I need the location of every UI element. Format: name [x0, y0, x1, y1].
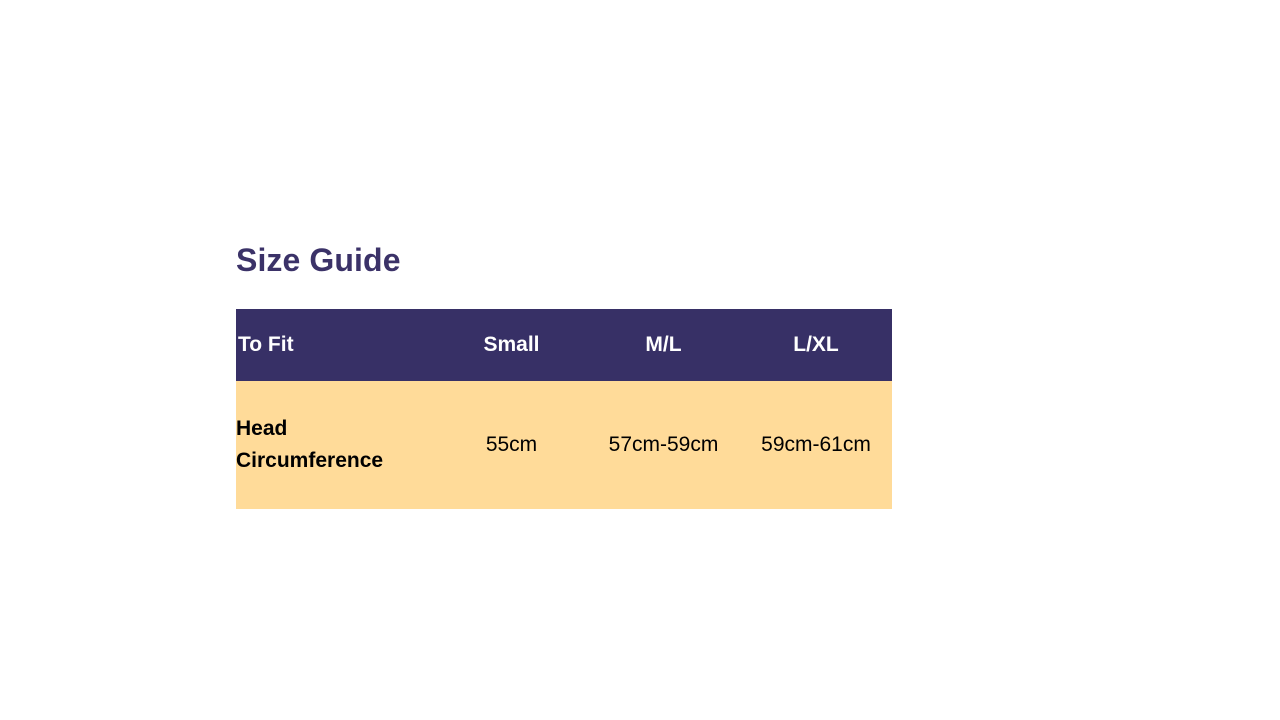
- cell-small-value: 55cm: [436, 381, 587, 509]
- row-header-line-2: Circumference: [236, 445, 436, 477]
- table-header: To Fit Small M/L L/XL: [236, 309, 892, 381]
- page-title: Size Guide: [236, 239, 401, 281]
- column-header-small: Small: [436, 309, 587, 381]
- column-header-lxl: L/XL: [740, 309, 892, 381]
- slide-canvas: Size Guide To Fit Small M/L L/XL: [0, 0, 1280, 720]
- table-header-row: To Fit Small M/L L/XL: [236, 309, 892, 381]
- column-header-to-fit: To Fit: [236, 309, 436, 381]
- column-header-small-label: Small: [436, 333, 587, 357]
- table-row: Head Circumference 55cm 57cm-59cm 59cm-6…: [236, 381, 892, 509]
- row-header-line-1: Head: [236, 413, 436, 445]
- column-header-ml: M/L: [587, 309, 740, 381]
- cell-ml-value: 57cm-59cm: [587, 381, 740, 509]
- column-header-to-fit-label: To Fit: [236, 333, 436, 357]
- table-body: Head Circumference 55cm 57cm-59cm 59cm-6…: [236, 381, 892, 509]
- size-guide-table: To Fit Small M/L L/XL Head Circumference: [236, 309, 892, 509]
- column-header-ml-label: M/L: [587, 333, 740, 357]
- row-header-head-circumference: Head Circumference: [236, 381, 436, 509]
- cell-lxl-value: 59cm-61cm: [740, 381, 892, 509]
- column-header-lxl-label: L/XL: [740, 333, 892, 357]
